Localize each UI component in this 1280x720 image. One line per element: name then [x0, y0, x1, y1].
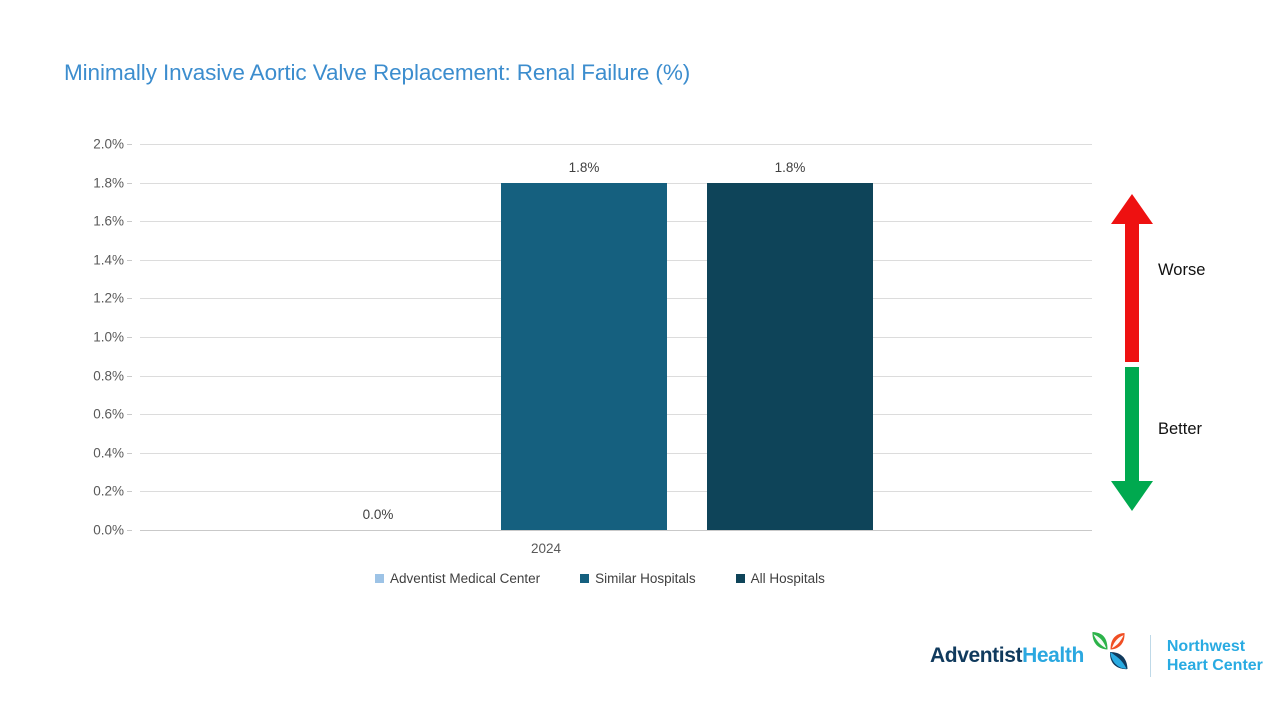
- bar-value-label: 1.8%: [775, 160, 806, 175]
- logo-brand-part2: Health: [1022, 644, 1084, 667]
- y-axis-tick-mark: [127, 221, 132, 222]
- worse-better-arrow-icon: [1108, 190, 1156, 515]
- y-axis: 2.0%1.8%1.6%1.4%1.2%1.0%0.8%0.6%0.4%0.2%…: [0, 144, 132, 530]
- y-axis-tick-mark: [127, 144, 132, 145]
- y-axis-tick-label: 0.2%: [0, 484, 132, 499]
- logo-brand-part1: Adventist: [930, 644, 1022, 667]
- adventist-health-leaf-icon: [1086, 628, 1132, 679]
- y-axis-tick-label: 0.4%: [0, 445, 132, 460]
- y-axis-tick-label: 0.8%: [0, 368, 132, 383]
- y-axis-tick-mark: [127, 183, 132, 184]
- y-axis-tick-label: 2.0%: [0, 137, 132, 152]
- worse-label: Worse: [1158, 261, 1205, 280]
- bar-value-label: 1.8%: [569, 160, 600, 175]
- legend-swatch-icon: [580, 574, 589, 583]
- y-axis-tick-label: 1.6%: [0, 214, 132, 229]
- legend-item-adventist-medical-center[interactable]: Adventist Medical Center: [375, 571, 540, 586]
- better-label: Better: [1158, 420, 1202, 439]
- x-axis-category-label: 2024: [0, 541, 1092, 556]
- y-axis-tick-mark: [127, 376, 132, 377]
- logo-wordmark: AdventistHealth: [930, 644, 1084, 668]
- page-title: Minimally Invasive Aortic Valve Replacem…: [64, 60, 690, 86]
- legend-item-label: All Hospitals: [751, 571, 825, 586]
- arrow-down-better-icon: [1111, 367, 1153, 511]
- legend-item-label: Similar Hospitals: [595, 571, 696, 586]
- logo-divider: [1150, 635, 1151, 677]
- y-axis-tick-label: 1.0%: [0, 330, 132, 345]
- bar-value-label: 0.0%: [363, 507, 394, 522]
- logo-subbrand: Northwest Heart Center: [1167, 637, 1263, 675]
- logo: AdventistHealth Northwest Heart Center: [930, 628, 1263, 684]
- arrow-up-worse-icon: [1111, 194, 1153, 362]
- legend-item-label: Adventist Medical Center: [390, 571, 540, 586]
- plot-area: 0.0%1.8%1.8%: [140, 144, 1092, 530]
- chart-legend: Adventist Medical Center Similar Hospita…: [0, 571, 1200, 586]
- y-axis-tick-mark: [127, 260, 132, 261]
- logo-subbrand-line1: Northwest: [1167, 637, 1263, 656]
- bar-similar-hospitals[interactable]: [501, 183, 667, 530]
- y-axis-tick-label: 1.2%: [0, 291, 132, 306]
- legend-swatch-icon: [736, 574, 745, 583]
- y-axis-tick-label: 1.8%: [0, 175, 132, 190]
- y-axis-tick-label: 0.6%: [0, 407, 132, 422]
- y-axis-tick-label: 0.0%: [0, 523, 132, 538]
- y-axis-tick-mark: [127, 298, 132, 299]
- y-axis-tick-label: 1.4%: [0, 252, 132, 267]
- legend-item-similar-hospitals[interactable]: Similar Hospitals: [580, 571, 696, 586]
- x-axis-tick-2024: 2024: [531, 541, 561, 556]
- logo-subbrand-line2: Heart Center: [1167, 656, 1263, 675]
- y-axis-tick-mark: [127, 530, 132, 531]
- y-axis-tick-mark: [127, 337, 132, 338]
- y-axis-tick-mark: [127, 414, 132, 415]
- legend-swatch-icon: [375, 574, 384, 583]
- y-axis-tick-mark: [127, 491, 132, 492]
- y-axis-tick-mark: [127, 453, 132, 454]
- bar-all-hospitals[interactable]: [707, 183, 873, 530]
- gridline: [140, 530, 1092, 531]
- legend-item-all-hospitals[interactable]: All Hospitals: [736, 571, 825, 586]
- gridline: [140, 144, 1092, 145]
